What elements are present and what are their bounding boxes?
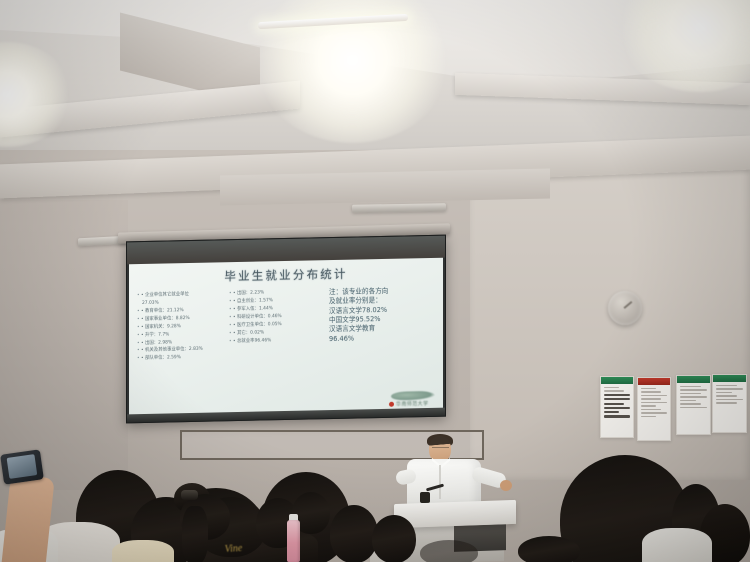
slide-title: 毕业生就业分布统计 [129,264,443,287]
lecture-hall-photo: 毕业生就业分布统计 • 企业单位其它就业单位 27.03% • 教育单位：21.… [0,0,750,562]
poster-line [716,385,737,386]
poster-line [641,409,661,410]
poster-line [604,407,630,409]
hair-clip [181,490,198,500]
poster-line [716,399,743,400]
poster-header [677,376,710,383]
audience-shoulder [642,528,712,562]
university-logo: 华南师范大学 [387,391,437,408]
glasses-icon [432,447,449,451]
slide-column-left: • 企业单位其它就业单位 27.03% • 教育单位：21.12% • 国家事业… [137,290,225,412]
forearm [1,474,54,562]
poster-header [601,377,633,384]
poster-body [638,385,670,417]
audience-shoulder [112,540,174,562]
logo-text: 华南师范大学 [396,400,428,408]
poster-line [641,398,661,399]
slide-bullet: • 总就业率96.46% [229,336,321,345]
poster-line [604,415,630,417]
poster-line [680,400,696,401]
phone-screen [7,454,38,479]
poster-body [677,383,710,408]
poster-line [641,412,667,413]
poster-line [716,395,737,396]
shirt-graphic-text: Vine [224,540,285,562]
poster-line [680,403,701,404]
wall-clock-icon [608,291,642,325]
slide-notes-column: 注：该专业的各方向 及就业率分别是： 汉语言文学78.02% 中国文学95.52… [325,286,425,408]
poster-line [604,411,619,413]
audience-head [518,536,580,562]
slide-bullet: • 部队单位：2.59% [137,354,225,363]
poster-red [637,377,671,441]
slide-note-line: 96.46% [329,333,425,344]
presenter-shirt-placket [439,465,441,499]
lectern-top [394,500,516,528]
poster-line [604,387,619,388]
screen-surface: 毕业生就业分布统计 • 企业单位其它就业单位 27.03% • 教育单位：21.… [126,235,446,424]
slide-column-middle: • 出国：2.23% • 自主创业：1.57% • 参军入伍：1.44% • 科… [229,288,321,410]
projection-screen: 毕业生就业分布统计 • 企业单位其它就业单位 27.03% • 教育单位：21.… [118,228,450,420]
poster-body [601,384,633,418]
poster-line [641,395,667,396]
presenter-right-hand [500,480,512,491]
poster-line [604,403,624,405]
fluorescent-tube-midright [352,203,446,213]
poster-green-right [712,374,747,433]
water-bottle [287,520,300,562]
poster-line [680,407,707,408]
audience-head [330,505,378,562]
poster-line [680,393,701,394]
poster-line [641,416,656,417]
projected-slide: 毕业生就业分布统计 • 企业单位其它就业单位 27.03% • 教育单位：21.… [129,258,443,417]
poster-line [680,386,701,387]
poster-line [680,389,707,390]
poster-green-mid [676,375,711,435]
poster-line [716,392,732,393]
logo-seal-icon [389,401,394,406]
smartphone [0,449,44,484]
hand-holding-phone [0,452,56,562]
poster-line [604,394,630,396]
audience-head [182,506,208,562]
poster-line [604,390,624,391]
poster-line [641,391,661,392]
poster-line [641,405,656,406]
poster-line [716,402,737,403]
poster-line [641,388,656,389]
poster-line [680,396,707,397]
audience-head [372,515,416,562]
poster-line [641,402,667,403]
poster-header [638,378,670,385]
poster-body [713,382,746,404]
poster-line [716,388,743,389]
microphone-base [420,492,430,503]
poster-line [604,398,630,400]
poster-green-left [600,376,634,438]
poster-header [713,375,746,382]
audience-head [420,540,478,562]
